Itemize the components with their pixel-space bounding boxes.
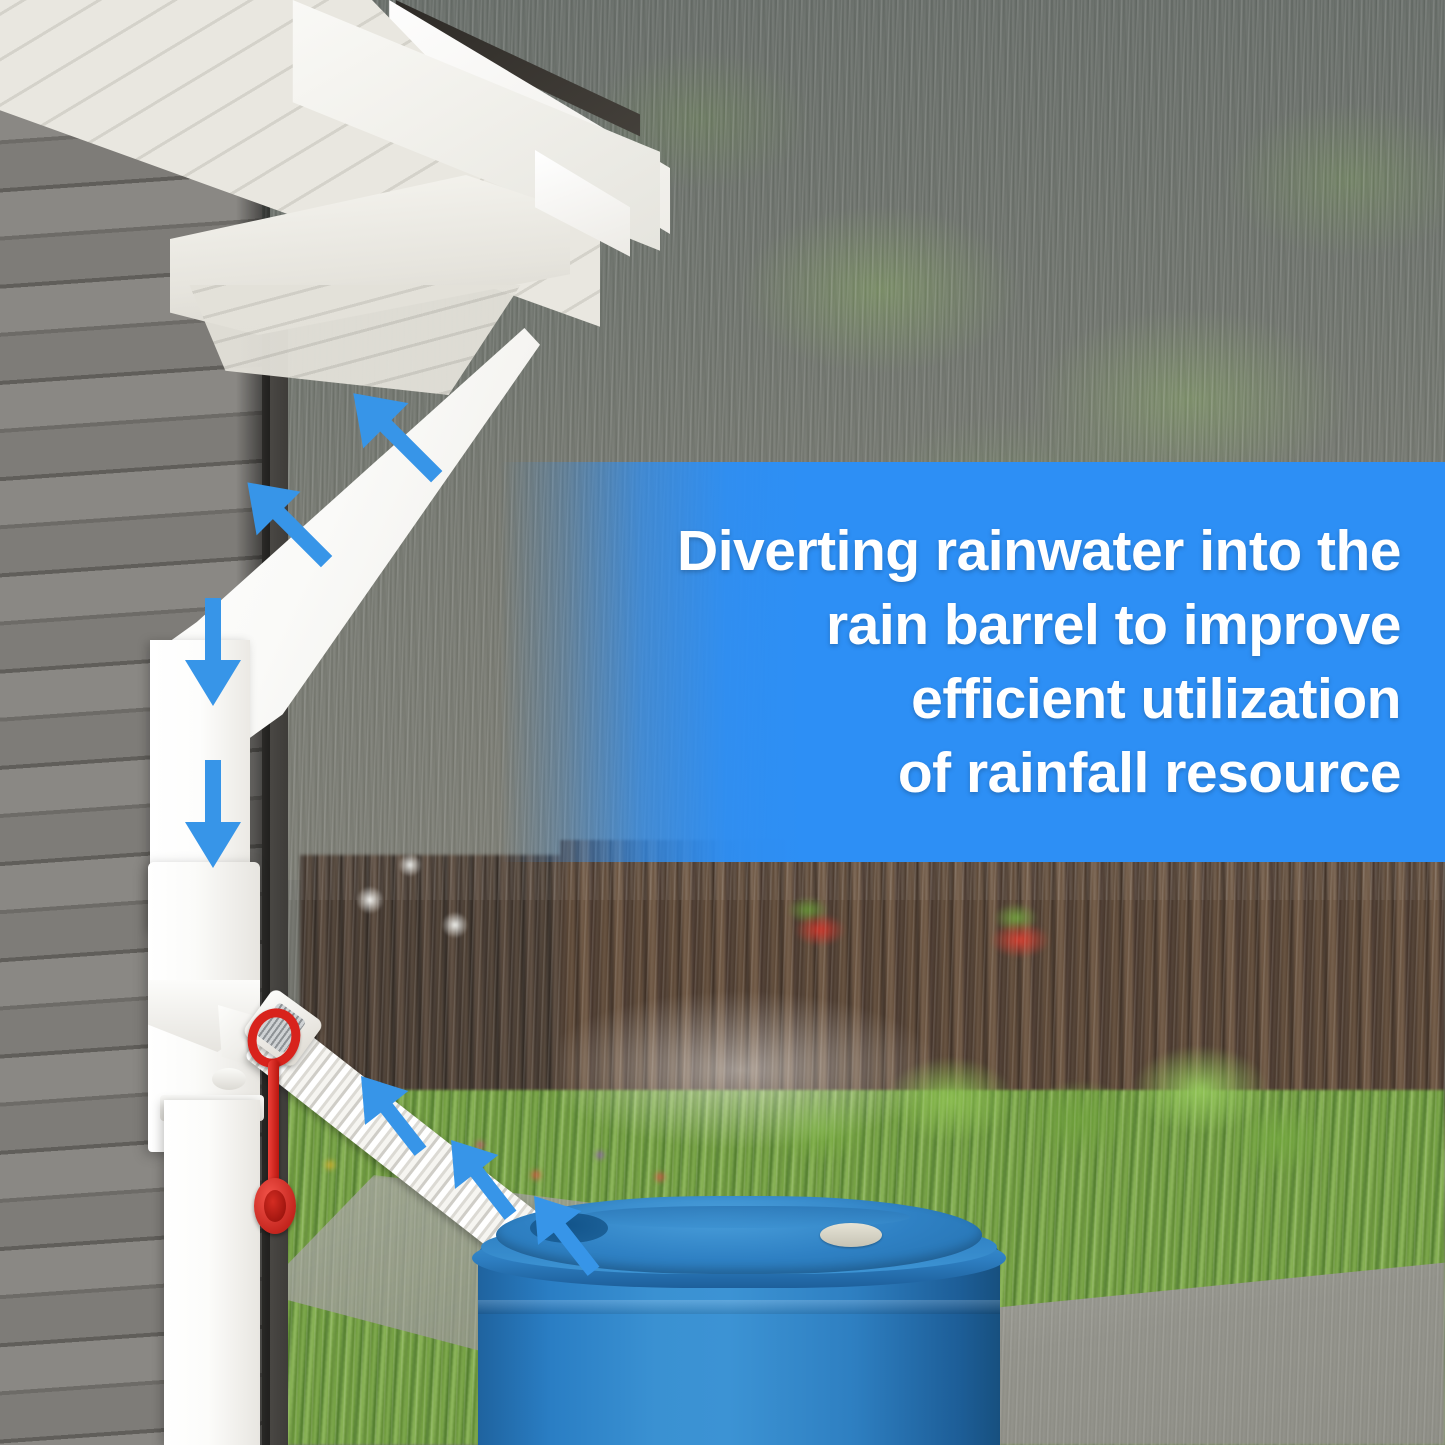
background-hanging-planters: [760, 880, 1190, 1010]
rain-barrel-waist-ridge: [478, 1300, 1000, 1314]
diverter-handle-stem[interactable]: [268, 1060, 279, 1195]
diverter-pivot-nub: [212, 1068, 246, 1090]
headline-text: Diverting rainwater into the rain barrel…: [677, 514, 1445, 810]
product-image: Diverting rainwater into the rain barrel…: [0, 0, 1445, 1445]
downspout-lower-section: [164, 1100, 260, 1445]
background-garden-foliage: [760, 1010, 1320, 1200]
arrow-diagonal-lower-icon: [225, 460, 350, 585]
arrow-hose-3-icon: [508, 1178, 618, 1288]
rain-barrel-fill-cap[interactable]: [820, 1223, 882, 1247]
headline-banner: Diverting rainwater into the rain barrel…: [500, 462, 1445, 862]
arrow-vertical-lower-icon: [178, 760, 248, 870]
diverter-handle-grip-inner: [264, 1190, 286, 1222]
arrow-vertical-upper-icon: [178, 598, 248, 708]
